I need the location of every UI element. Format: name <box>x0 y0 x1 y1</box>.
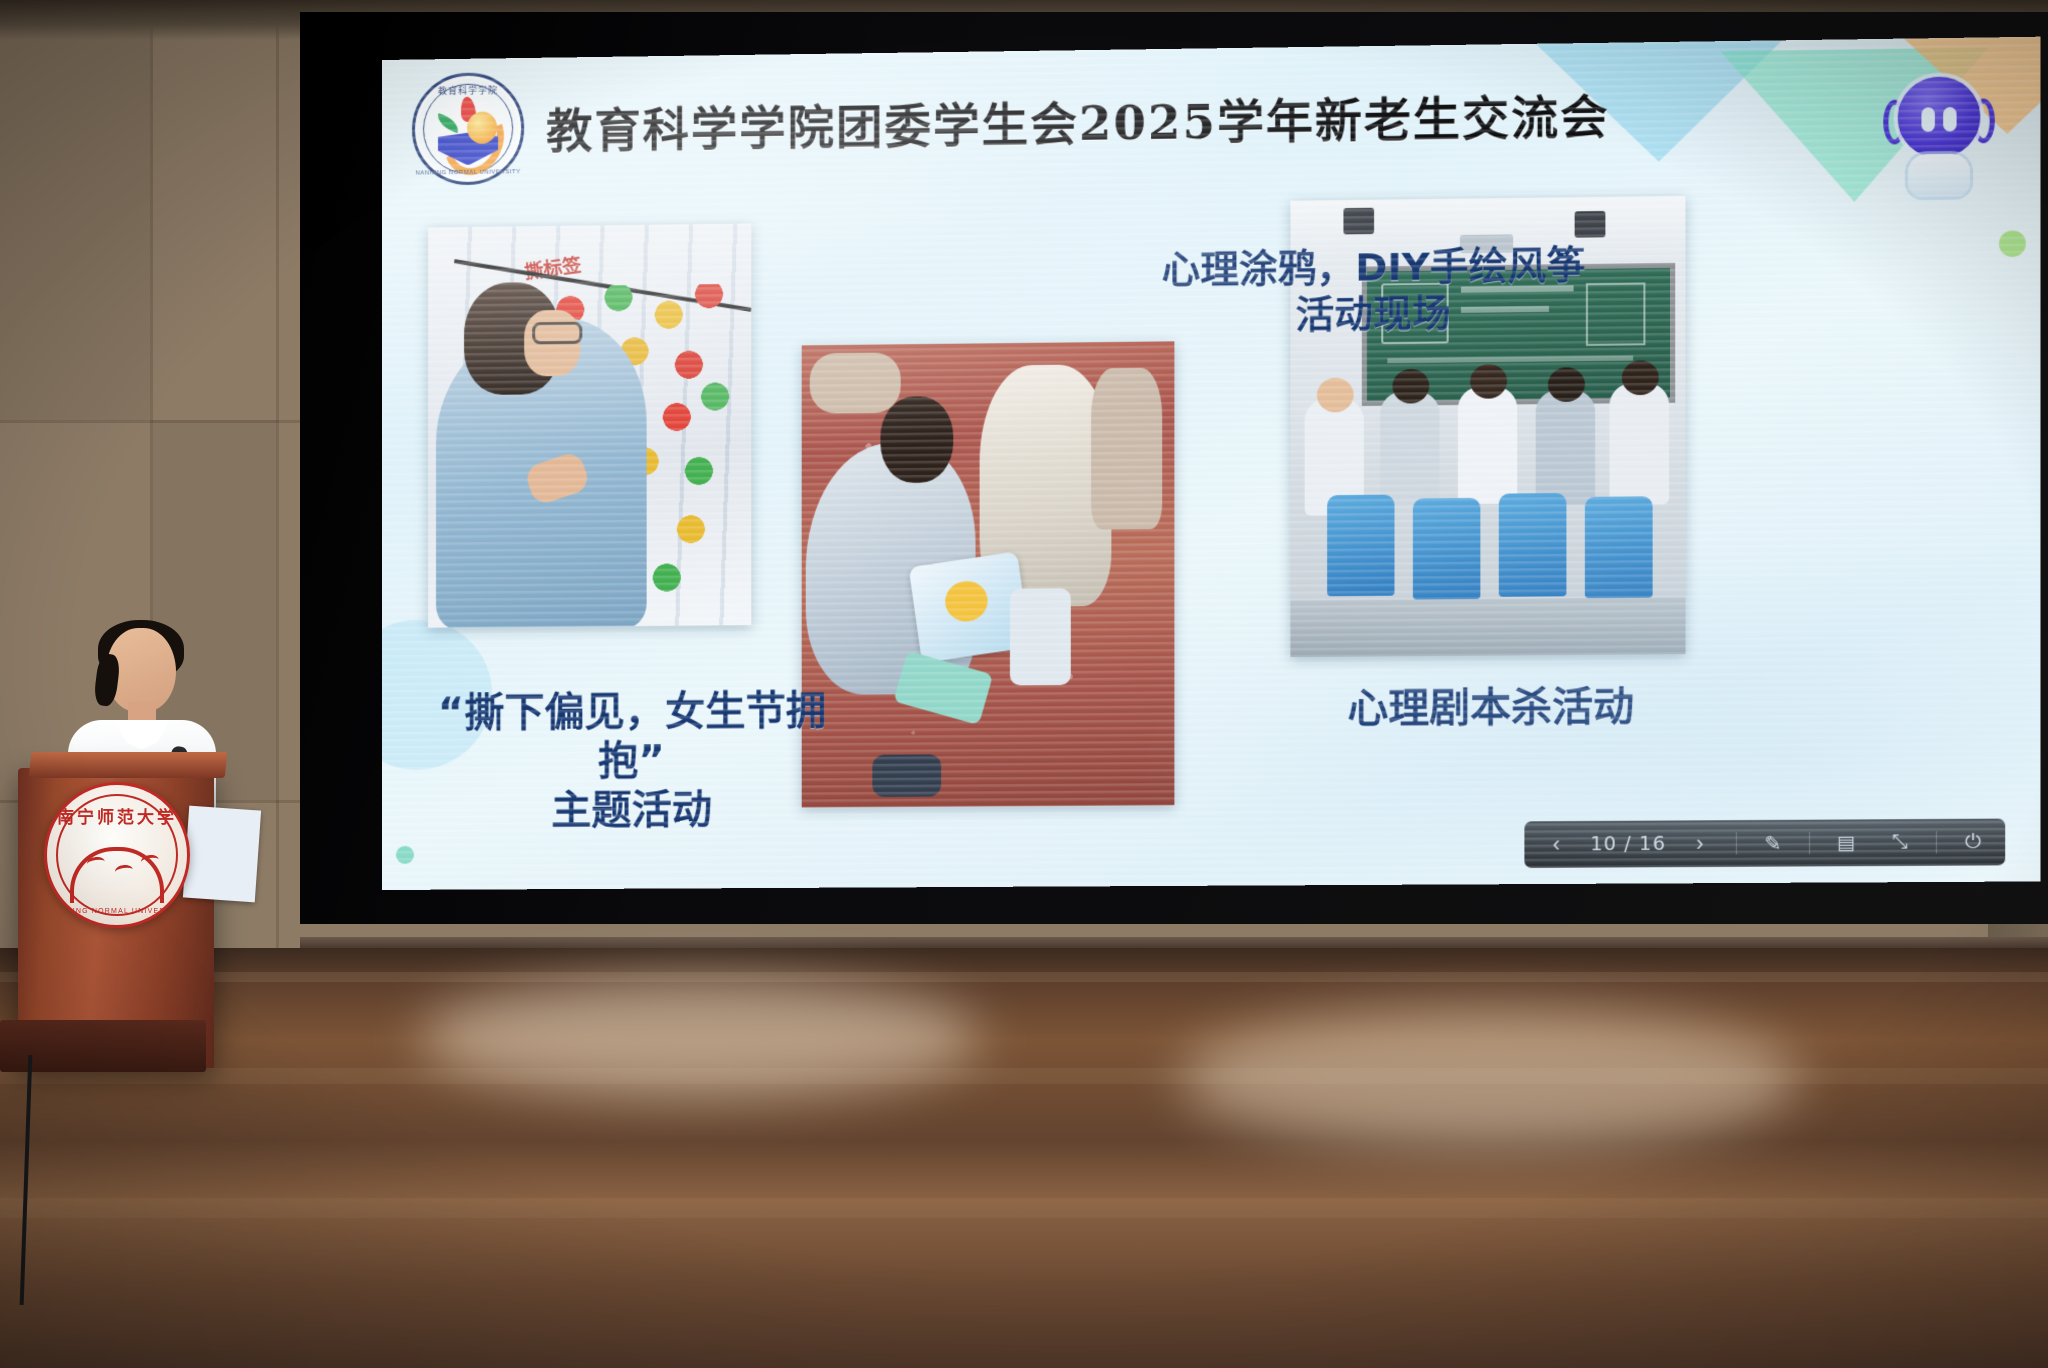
photo-student-side <box>1091 368 1162 530</box>
caption-left: “撕下偏见，女生节拥抱” 主题活动 <box>416 687 848 837</box>
photo-seated-head <box>1317 378 1354 413</box>
robot-eye-left <box>1921 107 1934 132</box>
slide-title: 教育科学学院团委学生会2025学年新老生交流会 <box>546 80 1609 161</box>
laser-pointer-icon[interactable]: ✎ <box>1747 826 1798 861</box>
photo-seated-student <box>1610 383 1670 505</box>
photo-kite-painting <box>802 341 1175 807</box>
photo-speaker-left <box>1343 208 1374 235</box>
university-emblem: 南宁师范大学 NANNING NORMAL UNIVERSITY <box>44 782 190 928</box>
toolbar-divider <box>1736 832 1737 854</box>
photo-chair <box>1413 498 1480 600</box>
photo-speaker-right <box>1575 211 1606 238</box>
photo-chair <box>1327 495 1394 597</box>
floor-reflection-band <box>0 1198 2048 1218</box>
floor-reflection-band <box>0 972 2048 982</box>
presentation-slide: 教育科学学院 NANNING NORMAL UNIVERSITY 教育科学学院团… <box>382 37 2040 890</box>
caption-right-line1: 心理剧本杀活动 <box>1286 682 1695 734</box>
photo-bag <box>1010 588 1071 685</box>
photo-student-glasses <box>532 322 582 345</box>
podium-papers <box>183 806 261 903</box>
photo-chalk-line <box>1387 356 1633 364</box>
previous-slide-button[interactable]: ‹ <box>1531 827 1582 862</box>
slide-counter: 10 / 16 <box>1584 827 1672 862</box>
speaker-notes-icon[interactable]: ▤ <box>1820 825 1872 860</box>
photo-shoe <box>872 754 941 797</box>
slide-header: 教育科学学院 NANNING NORMAL UNIVERSITY 教育科学学院团… <box>412 57 1610 186</box>
caption-right: 心理剧本杀活动 <box>1286 682 1695 734</box>
caption-left-line2: 主题活动 <box>416 785 848 837</box>
projection-screen: 教育科学学院 NANNING NORMAL UNIVERSITY 教育科学学院团… <box>300 12 2048 924</box>
robot-eye-right <box>1943 107 1956 132</box>
next-slide-button[interactable]: › <box>1674 826 1725 861</box>
end-show-power-icon[interactable]: ⏻ <box>1947 825 1999 860</box>
photo-student-hair-2 <box>880 396 953 483</box>
robot-head <box>1898 76 1981 158</box>
caption-left-line1: “撕下偏见，女生节拥抱” <box>416 687 848 788</box>
photo-seated-head <box>1392 369 1429 404</box>
college-logo: 教育科学学院 NANNING NORMAL UNIVERSITY <box>412 72 524 186</box>
photo-chair <box>1585 496 1653 598</box>
presenter-toolbar[interactable]: ‹ 10 / 16 › ✎ ▤ ⤡ ⏻ <box>1525 819 2006 868</box>
photo-seated-student <box>1536 389 1595 505</box>
decor-dot-teal <box>396 846 414 864</box>
toolbar-divider <box>1809 832 1810 854</box>
photo-seated-student <box>1458 386 1517 504</box>
caption-center-line2: 活动现场 <box>1144 288 1603 340</box>
photo-seated-head <box>1470 364 1507 399</box>
exit-fullscreen-icon[interactable]: ⤡ <box>1874 825 1926 860</box>
emblem-cn-text: 南宁师范大学 <box>47 803 187 828</box>
emblem-en-text: NANNING NORMAL UNIVERSITY <box>47 908 187 915</box>
photo-tear-label-wall: 撕标签 <box>428 223 751 627</box>
photo-floor <box>1290 597 1685 657</box>
robot-body <box>1908 154 1970 197</box>
toolbar-divider <box>1936 831 1937 853</box>
photo-seated-student <box>1380 391 1439 505</box>
photo-student-far <box>810 352 901 413</box>
photo-chair <box>1499 493 1567 597</box>
caption-center: 心理涂鸦，DIY手绘风筝 活动现场 <box>1144 241 1603 340</box>
decor-dot-green <box>1999 230 2026 257</box>
floor-light-reflection <box>420 978 980 1098</box>
logo-bottom-text: NANNING NORMAL UNIVERSITY <box>415 169 521 176</box>
robot-mascot-icon <box>1883 68 1995 204</box>
wall-panel <box>0 0 150 420</box>
podium-top-surface <box>29 752 228 778</box>
conference-hall-photo: 教育科学学院 NANNING NORMAL UNIVERSITY 教育科学学院团… <box>0 0 2048 1368</box>
logo-top-text: 教育科学学院 <box>415 83 521 97</box>
floor-light-reflection <box>1180 1008 1800 1148</box>
caption-center-line1: 心理涂鸦，DIY手绘风筝 <box>1144 241 1603 293</box>
stage-floor <box>0 948 2048 1368</box>
